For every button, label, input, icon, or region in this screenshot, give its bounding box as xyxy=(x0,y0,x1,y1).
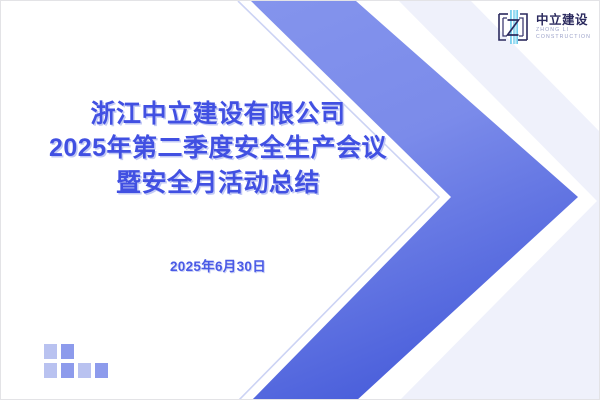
decorative-square xyxy=(44,363,57,378)
decorative-square xyxy=(61,363,74,378)
square-grid-decoration xyxy=(44,344,108,378)
logo-mark-icon xyxy=(495,9,531,45)
chevron-pale-decoration xyxy=(1,1,600,400)
presentation-slide: 中立建设 ZHONG LI CONSTRUCTION 浙江中立建设有限公司 20… xyxy=(0,0,600,400)
chevron-gradient-decoration xyxy=(1,1,600,400)
company-logo: 中立建设 ZHONG LI CONSTRUCTION xyxy=(495,9,591,45)
logo-name-en-line2: CONSTRUCTION xyxy=(536,35,591,40)
decorative-square xyxy=(44,344,57,359)
title-line-3: 暨安全月活动总结 xyxy=(23,166,413,200)
square-row xyxy=(44,363,108,378)
square-row xyxy=(44,344,108,359)
title-line-2: 2025年第二季度安全生产会议 xyxy=(23,131,413,165)
logo-name-cn: 中立建设 xyxy=(536,14,591,27)
logo-name-en-line1: ZHONG LI xyxy=(536,28,591,33)
decorative-square-empty xyxy=(78,344,91,359)
chevron-outline-decoration xyxy=(1,1,600,400)
slide-title: 浙江中立建设有限公司 2025年第二季度安全生产会议 暨安全月活动总结 xyxy=(23,97,413,200)
decorative-square-empty xyxy=(95,344,108,359)
decorative-square xyxy=(61,344,74,359)
decorative-square xyxy=(78,363,91,378)
slide-date: 2025年6月30日 xyxy=(23,255,413,275)
decorative-square xyxy=(95,363,108,378)
title-line-1: 浙江中立建设有限公司 xyxy=(23,97,413,131)
logo-text-group: 中立建设 ZHONG LI CONSTRUCTION xyxy=(536,14,591,40)
